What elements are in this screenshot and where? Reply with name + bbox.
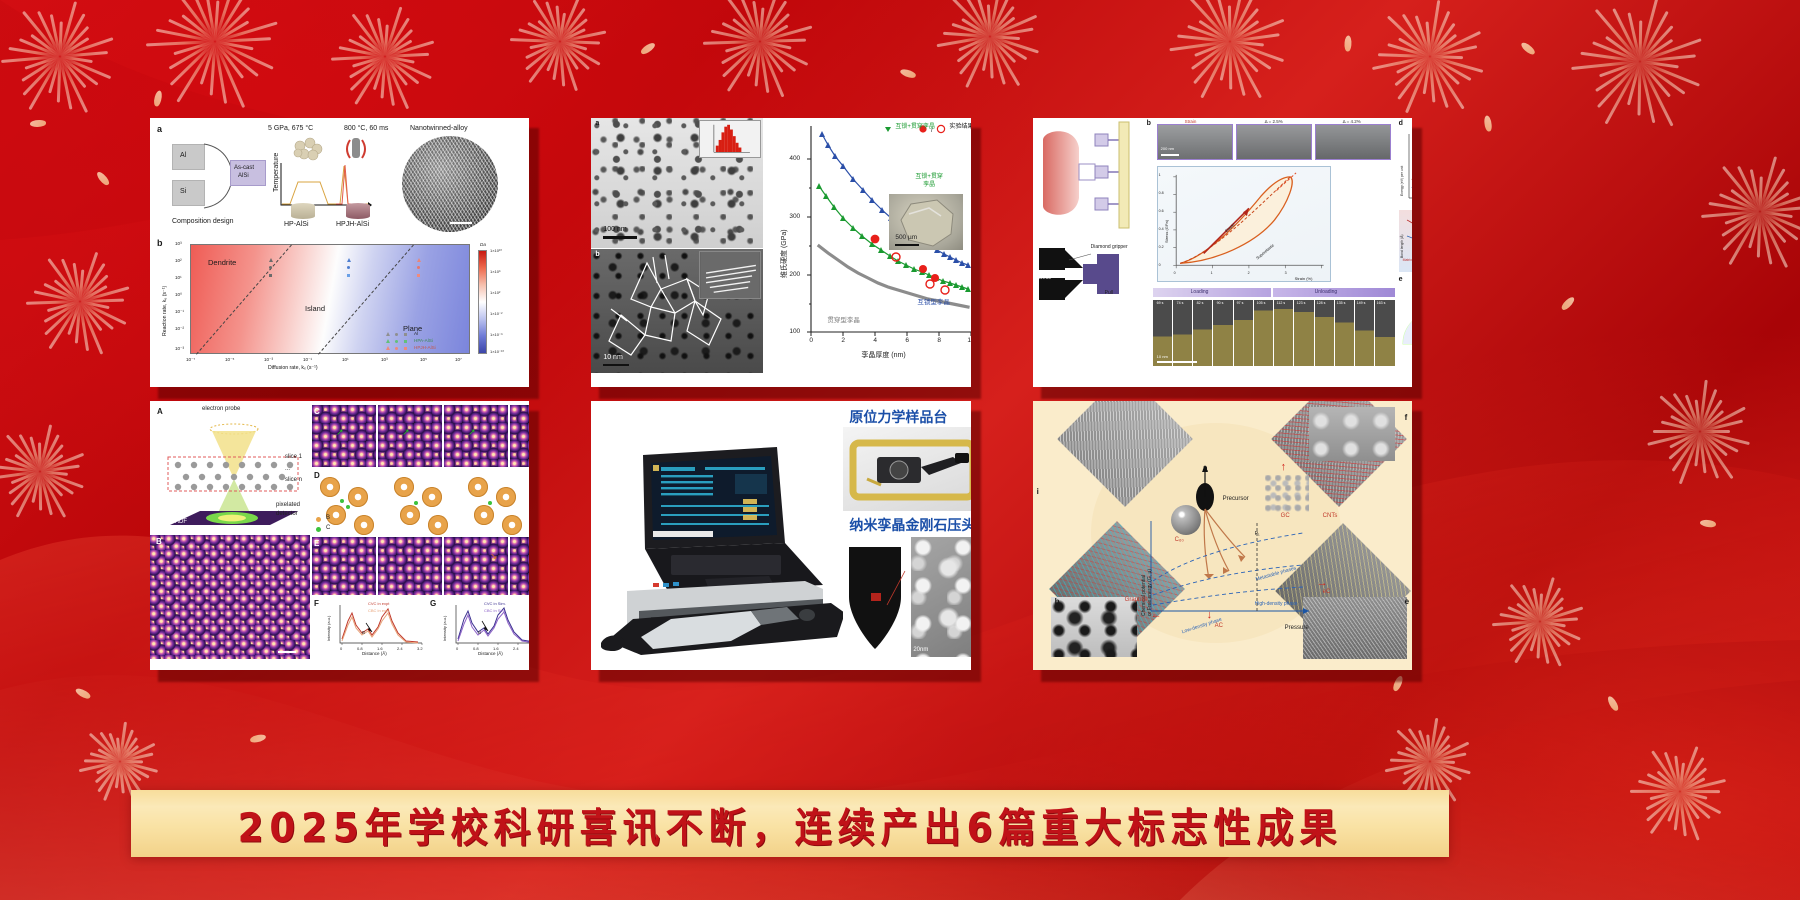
xtick: 8 — [937, 337, 941, 344]
loading-bar — [1153, 288, 1271, 297]
b-cluster-icon — [496, 487, 516, 507]
ytick: 300 — [789, 213, 800, 220]
subpanel-G-label: G — [430, 599, 436, 608]
strain-tag-label: Strain — [1185, 119, 1197, 124]
frame-time: 163 s — [1377, 301, 1386, 305]
annotation-F: B — [362, 630, 365, 635]
nanotwinned-hrtem-image — [402, 136, 498, 232]
subpanel-d-label: d — [1399, 120, 1403, 127]
scale-label-10nm: 10 nm — [1157, 354, 1168, 359]
ytick: 0.8 — [1159, 191, 1164, 195]
ytick: 10⁻¹ — [175, 309, 184, 315]
colorbar-tick: 1×10¹⁰ — [490, 248, 502, 253]
panel-2-figure: a 100 nm — [591, 118, 970, 387]
marker-circle — [347, 266, 350, 269]
region-plane-label: Plane — [403, 324, 422, 333]
panel-5-figure: 原位力学样品台 纳米孪晶金刚石压头 — [591, 401, 970, 670]
xtick: 4 — [873, 337, 877, 344]
frame-cell — [1355, 300, 1374, 366]
legend-dot-b — [316, 517, 321, 522]
b-cluster-icon — [354, 515, 374, 535]
ytick: 10⁻³ — [175, 346, 184, 352]
b-cluster-icon — [502, 515, 522, 535]
panel-1-figure: a 5 GPa, 675 °C 800 °C, 60 ms Nanotwinne… — [150, 118, 529, 387]
xtick: 10¹ — [342, 357, 349, 362]
b-cluster-icon — [400, 505, 420, 525]
legend-label-hpjh: HPJH-AlSi — [414, 345, 436, 350]
xtick: 10⁵ — [420, 357, 427, 362]
b-cluster-icon — [320, 477, 340, 497]
xtick: 10⁷ — [455, 357, 462, 362]
slice-n-label: slice n — [285, 477, 302, 483]
subpanel-a-label: a — [157, 124, 162, 134]
legend-label-al: Al — [414, 331, 418, 336]
legend-marker — [395, 333, 398, 336]
c-atom-dot — [346, 505, 350, 509]
ptycho-tile-C1 — [312, 405, 376, 467]
graphite-label: Graphite — [1125, 597, 1148, 603]
plot-G-xlabel: Distance (Å) — [478, 651, 503, 656]
colorbar-tick: 1×10² — [490, 290, 500, 295]
plot-b-xlabel: Diffusion rate, kₓ (s⁻¹) — [268, 365, 318, 371]
plot-b-ylabel: Reaction rate, kₑ (s⁻¹) — [162, 286, 168, 336]
si-block — [172, 180, 205, 206]
frame-cell — [1234, 300, 1253, 366]
region-island-label: Island — [305, 304, 325, 313]
marker-circle — [417, 266, 420, 269]
xtick: 3 — [1285, 271, 1287, 275]
marker-triangle — [269, 258, 273, 262]
pixelated-label: pixelated — [276, 502, 300, 508]
frame-time: 74 s — [1177, 301, 1184, 305]
colorbar-title: Da — [480, 242, 486, 247]
xtick: 2.4 — [397, 646, 403, 651]
annotation-G: B — [478, 630, 481, 635]
panel-6-figure: i b e f a — [1033, 401, 1412, 670]
stress-strain-plot: 1 0.8 0.6 0.4 0.2 0 0 1 2 3 Strain (%) S… — [1157, 166, 1331, 282]
ptychography-image-B — [150, 535, 310, 659]
subpanel-E-label: E — [314, 539, 319, 548]
legend-label-b: B — [326, 515, 330, 521]
subpanel-F-label: F — [314, 599, 319, 608]
sample-photo-inset — [889, 194, 963, 250]
xtick: 2 — [841, 337, 845, 344]
delta-1-label: Δ = 2.5% — [1265, 119, 1283, 124]
panel-card-1: a 5 GPa, 675 °C 800 °C, 60 ms Nanotwinne… — [150, 118, 529, 387]
legend-label-c: C — [326, 525, 330, 531]
plot-F: CVC in expt CBC in expt B Intensity (a.u… — [322, 599, 426, 657]
tem-image-top-right — [1309, 407, 1395, 461]
adf-label: ADF — [175, 519, 187, 525]
frame-time: 149 s — [1357, 301, 1366, 305]
ytick: 0 — [1159, 263, 1161, 267]
loading-label: Loading — [1191, 289, 1209, 295]
frame-time: 82 s — [1197, 301, 1204, 305]
frame-cell — [1173, 300, 1192, 366]
stem-frame-2 — [1236, 124, 1312, 160]
hardness-ylabel: 维氏硬度 (GPa) — [779, 229, 789, 278]
frame-cell — [1213, 300, 1232, 366]
twin-lamellae-inset — [699, 251, 761, 299]
sample-label: GeSe — [1039, 275, 1052, 281]
condition-2-label: 800 °C, 60 ms — [344, 125, 388, 132]
subpanel-e-label: e — [1405, 597, 1409, 606]
panel-card-6: i b e f a — [1033, 401, 1412, 670]
b-cluster-icon — [422, 487, 442, 507]
legend-label-experiment: 实验结果 — [949, 121, 970, 130]
ptycho-tile-E4 — [510, 537, 529, 595]
xtick: 10⁻⁷ — [186, 357, 195, 363]
ytick: 0.2 — [1159, 245, 1164, 249]
ptycho-tile-E1 — [312, 537, 376, 595]
ptycho-tile-C3 — [444, 405, 508, 467]
legend-marker — [404, 347, 407, 350]
marker-square — [417, 274, 420, 277]
frame-time: 97 s — [1237, 301, 1244, 305]
frame-time: 105 s — [1257, 301, 1266, 305]
annotation-penetrate: 贯穿型孪晶 — [827, 314, 860, 324]
indenter-photo — [843, 537, 909, 657]
marker-square — [269, 274, 272, 277]
legend-marker — [395, 340, 398, 343]
panel-2-sheet: a 100 nm — [591, 118, 970, 387]
gc-icon — [1265, 475, 1309, 513]
cnts-label: CNTs — [1323, 513, 1338, 519]
ytick: 0.4 — [1159, 227, 1164, 231]
scale-bar-500um — [895, 244, 919, 246]
marker-square — [347, 274, 350, 277]
frame-cell — [1274, 300, 1293, 366]
panel-5-sheet: 原位力学样品台 纳米孪晶金刚石压头 — [591, 401, 970, 670]
scale-bar-10nm — [1157, 361, 1197, 363]
as-cast-label-1: As-cast — [234, 165, 254, 171]
hardness-chart: / 互锁+贯穿孪晶 实验结果 互锁+贯穿 孪晶 互锁型孪晶 贯穿型孪晶 400 … — [765, 118, 970, 376]
slice-1-label: slice 1 — [285, 454, 302, 460]
colorbar-tick: 1×10⁻² — [490, 311, 502, 316]
legend-F-1: CVC in expt — [368, 601, 389, 606]
stem-frame-3 — [1315, 124, 1391, 160]
hpjh-alsi-label: HPJH-AlSi — [336, 221, 369, 228]
legend-label-hpa: HPA-AlSi — [414, 338, 433, 343]
b-cluster-icon — [474, 505, 494, 525]
legend-marker — [386, 346, 390, 350]
ac-label: AC — [1215, 623, 1223, 629]
panel-6-sheet: i b e f a — [1033, 401, 1412, 670]
ytick: 10² — [175, 258, 182, 263]
legend-dot-c — [316, 527, 321, 532]
gc-label: GC — [1281, 513, 1290, 519]
colorbar-tick: 1×10⁻¹⁰ — [490, 349, 504, 354]
ytick: 10¹ — [175, 275, 182, 280]
xtick: 0 — [340, 646, 342, 651]
colorbar — [478, 250, 487, 354]
panel-1-sheet: a 5 GPa, 675 °C 800 °C, 60 ms Nanotwinne… — [150, 118, 529, 387]
xtick: 0 — [1174, 271, 1176, 275]
subpanel-i-label: i — [1037, 487, 1039, 496]
grain-size-histogram-inset — [699, 120, 761, 158]
frame-time: 123 s — [1297, 301, 1306, 305]
ptycho-tile-C2 — [378, 405, 442, 467]
panel-3-figure: Diamond gripper GeSe Pull b Strain Δ = 2… — [1033, 118, 1412, 387]
scale-label-20nm: 20nm — [913, 647, 928, 653]
hpjh-sample-cylinder — [346, 203, 370, 219]
frame-cell — [1375, 300, 1394, 366]
nanotwinned-label: Nanotwinned-alloy — [410, 125, 468, 132]
frame-cell — [1294, 300, 1313, 366]
subpanel-b-label: b — [595, 251, 599, 258]
legend-marker — [404, 340, 407, 343]
plot-G: CVC in Sim. CBC in Sim. B Intensity (a.u… — [438, 599, 529, 657]
panel-card-2: a 100 nm — [591, 118, 970, 387]
xtick: 2.4 — [513, 646, 519, 651]
plot-G-ylabel: Intensity (a.u.) — [442, 616, 447, 641]
frame-cell — [1335, 300, 1354, 366]
legend-G-1: CVC in Sim. — [484, 601, 506, 606]
legend-marker — [404, 333, 407, 336]
diamond-gripper-schematic — [1035, 238, 1145, 308]
stress-strain-xlabel: Strain (%) — [1295, 276, 1313, 281]
hp-sample-cylinder — [291, 203, 315, 219]
bottom-banner: 2025年学校科研喜讯不断，连续产出6篇重大标志性成果 — [131, 790, 1449, 857]
scale-label-500um: 500 µm — [895, 234, 917, 241]
frame-time: 69 s — [1157, 301, 1164, 305]
stress-strain-ylabel: Stress (GPa) — [1164, 220, 1169, 243]
subpanel-B-label: B — [156, 537, 162, 546]
energy-ylabel: Energy (eV) per unit — [1400, 166, 1404, 196]
b-cluster-icon — [428, 515, 448, 535]
region-dendrite-label: Dendrite — [208, 258, 236, 267]
ptycho-tile-E2 — [378, 537, 442, 595]
as-cast-label-2: AlSi — [238, 173, 249, 179]
subpanel-f-label: f — [1405, 413, 1408, 422]
xtick: 0 — [456, 646, 458, 651]
frame-time: 128 s — [1317, 301, 1326, 305]
marker-triangle — [417, 258, 421, 262]
ptycho-tile-E3 — [444, 537, 508, 595]
subpanel-a-label: a — [595, 120, 599, 127]
frame-strip — [1153, 300, 1395, 366]
legend-marker — [395, 347, 398, 350]
panel-card-4: A electron probe — [150, 401, 529, 670]
scale-label-100nm: 100 nm — [603, 226, 626, 233]
xtick: 0 — [809, 337, 813, 344]
c-atom-dot — [414, 501, 418, 505]
delta-2-label: Δ = 4.2% — [1343, 119, 1361, 124]
marker-circle — [269, 266, 272, 269]
xtick: 10³ — [381, 357, 388, 362]
title-diamond-indenter: 纳米孪晶金刚石压头 — [849, 515, 970, 535]
al-block — [172, 144, 205, 170]
ytick: 1 — [1159, 173, 1161, 177]
banner-text: 2025年学校科研喜讯不断，连续产出6篇重大标志性成果 — [238, 794, 1343, 852]
sample-stage-photo — [843, 427, 970, 511]
panel-3-sheet: Diamond gripper GeSe Pull b Strain Δ = 2… — [1033, 118, 1412, 387]
plot-F-xlabel: Distance (Å) — [362, 651, 387, 656]
red-arrow-down-icon: ↓ — [1207, 609, 1213, 621]
legend-marker — [386, 339, 390, 343]
ytick: 200 — [789, 271, 800, 278]
unloading-label: Unloading — [1315, 289, 1338, 295]
ytick: 400 — [789, 155, 800, 162]
xtick: 10⁻³ — [264, 357, 273, 363]
frame-time: 90 s — [1217, 301, 1224, 305]
annotation-interlock-penetrate: 互锁+贯穿 孪晶 — [915, 173, 943, 189]
red-arrow-right-icon: → — [1317, 577, 1328, 589]
matrix-label: Matrix — [1403, 258, 1412, 262]
green-arrow-icon: ↗ — [336, 427, 344, 438]
energy-barrier-plot: Transition state Energy (eV) per unit — [1399, 128, 1412, 206]
detector-label: detector — [276, 511, 298, 517]
research-figure-grid: a 5 GPa, 675 °C 800 °C, 60 ms Nanotwinne… — [150, 118, 1412, 670]
press-icon — [345, 134, 367, 162]
b-cluster-icon — [348, 487, 368, 507]
ytick: 100 — [789, 328, 800, 335]
c-atom-dot — [488, 501, 492, 505]
ec-label: eC — [1323, 589, 1331, 595]
colorbar-tick: 1×10⁶ — [490, 269, 501, 274]
p1-label: P₁ — [1255, 531, 1260, 537]
scale-label-10nm: 10 nm — [603, 354, 622, 361]
legend-G-2: CBC in Sim. — [484, 608, 506, 613]
colorbar-tick: 1×10⁻⁶ — [490, 332, 503, 337]
xtick: 3.2 — [417, 646, 423, 651]
marker-triangle — [347, 258, 351, 262]
ytick: 10⁻² — [175, 326, 184, 332]
plot-F-ylabel: Intensity (a.u.) — [326, 616, 331, 641]
legend-marker — [386, 332, 390, 336]
tem-image-bottom-left — [1051, 597, 1137, 657]
bond-length-plot: Matrix Twin Bond length (Å) — [1399, 210, 1412, 272]
pressure-label: Pressure — [1285, 625, 1309, 631]
nano-scale-bar — [450, 222, 472, 224]
panel-card-5: 原位力学样品台 纳米孪晶金刚石压头 — [591, 401, 970, 670]
ytick: 10⁰ — [175, 292, 182, 298]
orange-arrow-icon: ↘ — [490, 551, 498, 562]
annotation-interlock: 互锁型孪晶 — [917, 296, 950, 306]
precursor-label: Precursor — [1223, 496, 1249, 502]
subpanel-b-label: b — [1055, 597, 1060, 606]
scale-bar-100nm — [603, 236, 637, 239]
red-arrow-up-icon: ↑ — [1281, 461, 1287, 473]
frame-cell — [1254, 300, 1273, 366]
subpanel-C-label: C — [314, 407, 320, 416]
powder-icon — [290, 136, 326, 162]
red-arrow-left-icon: ← — [1151, 609, 1162, 621]
c60-icon — [1171, 505, 1201, 535]
pull-label: Pull — [1105, 290, 1113, 296]
sample-holder-photo — [601, 597, 851, 659]
green-arrow-icon: ↗ — [402, 427, 410, 438]
frame-cell — [1193, 300, 1212, 366]
xtick: 10⁻⁵ — [225, 357, 234, 363]
al-label: Al — [180, 152, 186, 159]
panel-4-figure: A electron probe — [150, 401, 529, 670]
composition-design-label: Composition design — [172, 218, 233, 225]
c60-label: C₆₀ — [1175, 537, 1184, 543]
hp-alsi-label: HP-AlSi — [284, 221, 309, 228]
molecule-diagram-row — [312, 473, 529, 535]
electron-probe-label: electron probe — [202, 406, 240, 412]
ytick: 10³ — [175, 241, 182, 246]
condition-1-label: 5 GPa, 675 °C — [268, 125, 313, 132]
ytick: 0.6 — [1159, 209, 1164, 213]
xtick: 2 — [1248, 271, 1250, 275]
green-arrow-icon: ↗ — [468, 427, 476, 438]
c-atom-dot — [340, 499, 344, 503]
frame-cell — [1315, 300, 1334, 366]
xtick: 10 — [967, 337, 970, 344]
subpanel-b-label: b — [1147, 120, 1151, 127]
subpanel-b-label: b — [157, 238, 163, 248]
legend-label-interlock-penetrate: 互锁+贯穿孪晶 — [895, 121, 935, 130]
b-cluster-icon — [468, 477, 488, 497]
scale-label-200nm: 200 nm — [1161, 146, 1174, 151]
xtick: 6 — [905, 337, 909, 344]
diamond-gripper-label: Diamond gripper — [1091, 244, 1128, 250]
si-label: Si — [180, 188, 186, 195]
high-density-label: High-density phase — [1255, 601, 1298, 607]
ptycho-tile-C4 — [510, 405, 529, 467]
legend-F-2: CBC in expt — [368, 608, 389, 613]
scale-bar — [278, 651, 296, 653]
frame-time: 112 s — [1277, 301, 1286, 305]
bond-ylabel: Bond length (Å) — [1400, 234, 1404, 258]
scale-bar-10nm — [603, 364, 629, 366]
panel-card-3: Diamond gripper GeSe Pull b Strain Δ = 2… — [1033, 118, 1412, 387]
frame-time: 135 s — [1337, 301, 1346, 305]
title-in-situ-stage: 原位力学样品台 — [849, 407, 947, 427]
panel-4-sheet: A electron probe — [150, 401, 529, 670]
sem-image — [911, 537, 970, 657]
b-cluster-icon — [394, 477, 414, 497]
xtick: 1 — [1211, 271, 1213, 275]
scale-bar-200nm — [1161, 154, 1179, 156]
subpanel-e-label: e — [1399, 276, 1403, 283]
scale-label-20um: 20μm — [883, 647, 898, 653]
slices-dots-label: ... — [285, 466, 290, 472]
xtick: 10⁻¹ — [303, 357, 312, 363]
hardness-xlabel: 孪晶厚度 (nm) — [861, 350, 905, 360]
polar-diagram: Interfacial — [1399, 284, 1412, 366]
